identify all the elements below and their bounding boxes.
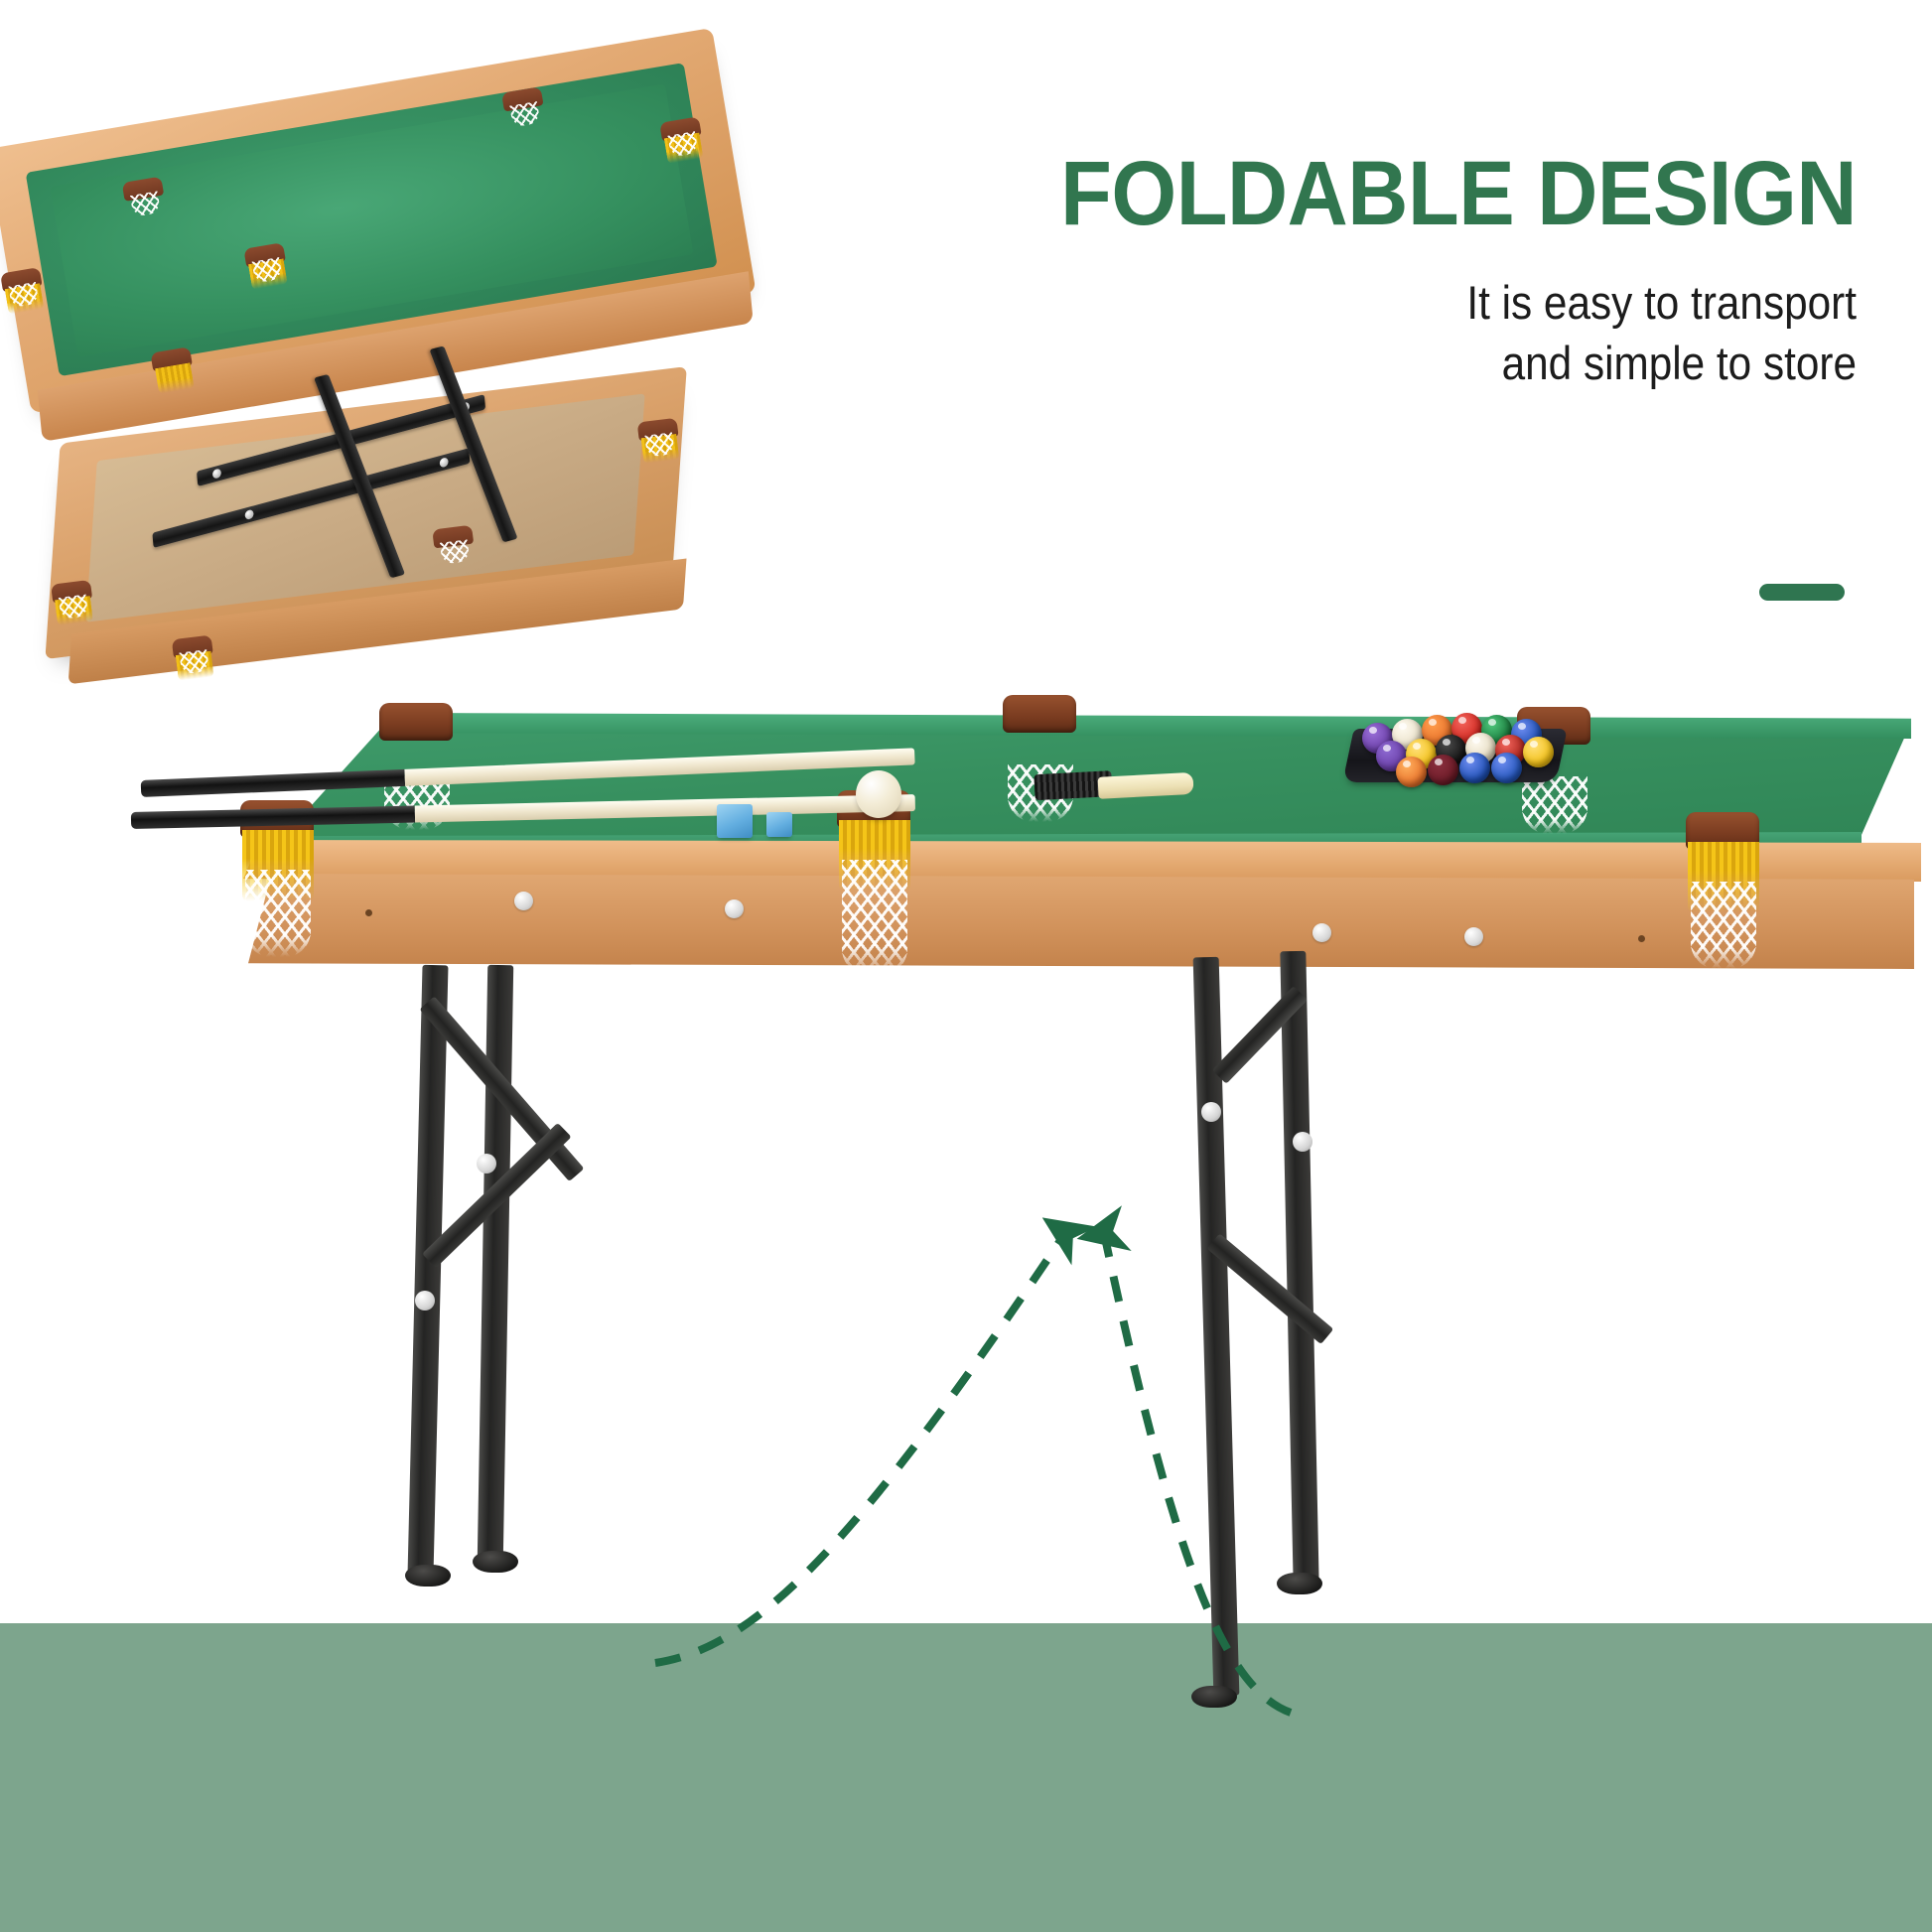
hero-leg-rear-right bbox=[1280, 951, 1318, 1587]
folded-pocket-side bbox=[432, 525, 475, 556]
bolt-icon bbox=[1201, 1102, 1221, 1122]
billiard-ball bbox=[1428, 755, 1458, 785]
bolt-icon bbox=[415, 1291, 435, 1311]
billiard-ball bbox=[1459, 753, 1490, 783]
bolt-icon bbox=[725, 899, 744, 918]
pocket-corner-right bbox=[659, 116, 703, 148]
bolt-icon bbox=[1312, 923, 1331, 942]
page-subtitle: It is easy to transport and simple to st… bbox=[1026, 272, 1857, 393]
screw-icon bbox=[439, 457, 448, 468]
chalk-cube-2 bbox=[766, 812, 792, 837]
folded-pocket-left bbox=[51, 580, 93, 611]
screw-hole-icon bbox=[1638, 935, 1645, 942]
ball-rack bbox=[1348, 713, 1562, 784]
pocket-corner-bottom-left bbox=[150, 346, 194, 378]
hero-foot-front-right bbox=[1191, 1686, 1237, 1708]
hero-foot-front-left bbox=[405, 1565, 451, 1587]
screw-icon bbox=[244, 509, 253, 520]
banner-text-block: FOLDABLE DESIGN It is easy to transport … bbox=[933, 149, 1857, 393]
product-view-hero-table bbox=[149, 695, 1926, 1787]
hero-foot-rear-left bbox=[473, 1551, 518, 1573]
folded-pocket-bottom-left bbox=[172, 635, 214, 666]
bolt-icon bbox=[1464, 927, 1483, 946]
hero-table-apron bbox=[248, 874, 1914, 969]
bolt-icon bbox=[477, 1154, 496, 1173]
accent-dash-divider bbox=[1759, 584, 1845, 601]
cue-ball bbox=[856, 770, 901, 818]
pocket-side-lower bbox=[243, 242, 287, 274]
screw-hole-icon bbox=[365, 909, 372, 916]
chalk-cube-1 bbox=[717, 804, 753, 838]
screw-icon bbox=[212, 468, 221, 479]
pocket-leather-cap bbox=[379, 703, 453, 741]
brush-handle bbox=[1098, 772, 1194, 799]
subtitle-line-1: It is easy to transport bbox=[1026, 272, 1857, 333]
bolt-icon bbox=[514, 892, 533, 910]
pocket-corner-top-right bbox=[501, 86, 545, 118]
pocket-net bbox=[842, 860, 907, 975]
hero-foot-rear-right bbox=[1277, 1573, 1322, 1594]
billiard-ball bbox=[1396, 757, 1427, 787]
pocket-net bbox=[1522, 776, 1587, 834]
folded-pocket-right bbox=[637, 418, 680, 449]
pocket-side-upper-left bbox=[122, 177, 166, 208]
product-marketing-image: FOLDABLE DESIGN It is easy to transport … bbox=[0, 0, 1932, 1932]
pocket-leather-cap bbox=[1003, 695, 1076, 733]
hero-leg-front-left bbox=[407, 965, 448, 1576]
pocket-net bbox=[245, 870, 311, 957]
page-title: FOLDABLE DESIGN bbox=[1007, 149, 1857, 238]
bolt-icon bbox=[1293, 1132, 1312, 1152]
billiard-ball bbox=[1491, 753, 1522, 783]
subtitle-line-2: and simple to store bbox=[1026, 333, 1857, 393]
billiard-ball bbox=[1523, 737, 1554, 767]
pocket-net bbox=[1691, 882, 1756, 969]
pocket-corner-left bbox=[0, 267, 44, 299]
